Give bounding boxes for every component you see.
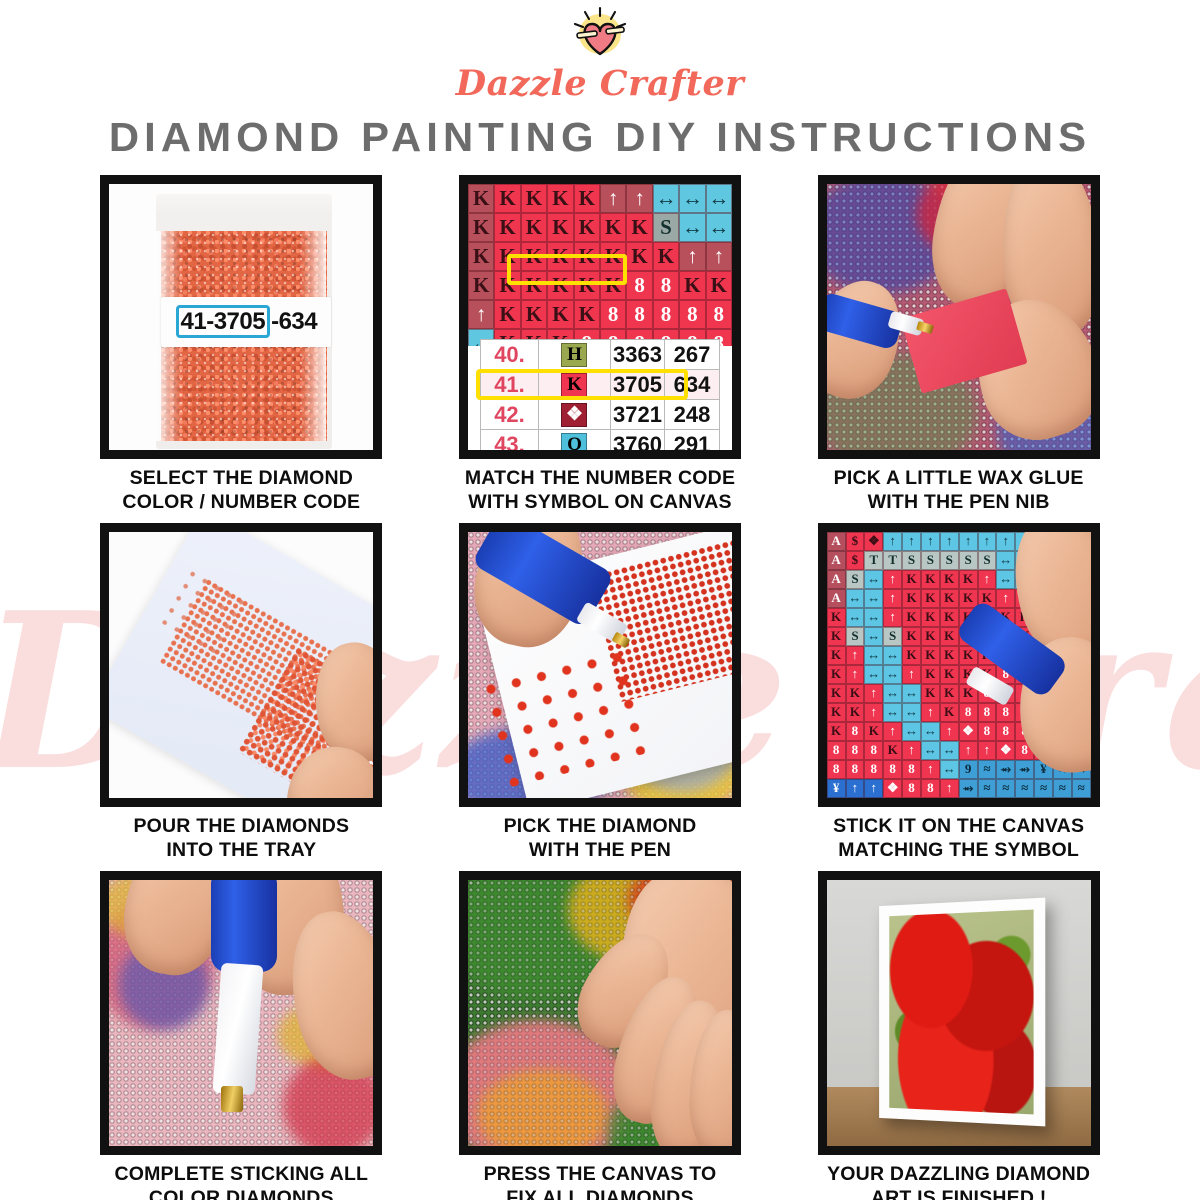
pick-diamond-scene xyxy=(468,532,732,798)
legend-dmc: 3363 xyxy=(611,340,665,370)
legend-table: 40. H 3363 267 41. K 3705 634 42. xyxy=(480,339,720,450)
step-photo xyxy=(459,523,741,807)
highlighted-code: 41-3705 xyxy=(176,305,271,338)
framed-artwork xyxy=(889,909,1033,1114)
bag-label: 41-3705-634 xyxy=(161,297,331,347)
step-complete-sticking: COMPLETE STICKING ALL COLOR DIAMONDS xyxy=(62,871,421,1200)
table-row: 41. K 3705 634 xyxy=(481,370,719,400)
steps-grid: 41-3705-634 SELECT THE DIAMOND COLOR / N… xyxy=(0,175,1200,1200)
legend-count: 248 xyxy=(665,400,719,430)
step-match-number-code: KKKKK↑↑↔↔↔ KKKKKKKS↔↔ KKKKKKKK↑↑ KKKKKK8… xyxy=(421,175,780,515)
legend-index: 40. xyxy=(481,340,539,370)
legend-dmc: 3760 xyxy=(611,430,665,450)
brand-name: Dazzle Crafter xyxy=(0,66,1200,101)
page-title: DIAMOND PAINTING DIY INSTRUCTIONS xyxy=(0,114,1200,161)
step-caption: YOUR DAZZLING DIAMOND ART IS FINISHED ! xyxy=(827,1162,1090,1200)
step-stick-on-canvas: A$❖↑↑↑↑↑↑↑↑↑KK A$TTSSSSS↔↔S↔↔ AS↔↑KKKK↑↔… xyxy=(779,523,1138,863)
legend-dmc: 3705 xyxy=(611,370,665,400)
step-photo xyxy=(100,871,382,1155)
step-photo: 41-3705-634 xyxy=(100,175,382,459)
legend-symbol: ❖ xyxy=(539,400,611,430)
chart-highlight-box xyxy=(507,254,627,285)
table-row: 43. Q 3760 291 xyxy=(481,430,719,450)
symbol-chart-scene: A$❖↑↑↑↑↑↑↑↑↑KK A$TTSSSSS↔↔S↔↔ AS↔↑KKKK↑↔… xyxy=(827,532,1091,798)
step-photo xyxy=(459,871,741,1155)
step-caption: STICK IT ON THE CANVAS MATCHING THE SYMB… xyxy=(833,814,1084,863)
logo-wrap xyxy=(0,6,1200,64)
step-photo xyxy=(818,175,1100,459)
bag-label-text: 41-3705-634 xyxy=(176,308,318,336)
complete-sticking-scene xyxy=(109,880,373,1146)
wax-glue-scene xyxy=(827,184,1091,450)
heart-with-needle-icon xyxy=(568,6,632,62)
page-header: Dazzle Crafter DIAMOND PAINTING DIY INST… xyxy=(0,0,1200,161)
finished-art-scene xyxy=(827,880,1091,1146)
step-caption: PICK THE DIAMOND WITH THE PEN xyxy=(504,814,697,863)
legend-count: 291 xyxy=(665,430,719,450)
canvas-chart-scene: KKKKK↑↑↔↔↔ KKKKKKKS↔↔ KKKKKKKK↑↑ KKKKKK8… xyxy=(468,184,732,450)
step-caption: POUR THE DIAMONDS INTO THE TRAY xyxy=(133,814,349,863)
step-pick-diamond-with-pen: PICK THE DIAMOND WITH THE PEN xyxy=(421,523,780,863)
step-photo xyxy=(818,871,1100,1155)
step-select-diamond-color: 41-3705-634 SELECT THE DIAMOND COLOR / N… xyxy=(62,175,421,515)
code-suffix: -634 xyxy=(271,308,317,335)
step-photo: A$❖↑↑↑↑↑↑↑↑↑KK A$TTSSSSS↔↔S↔↔ AS↔↑KKKK↑↔… xyxy=(818,523,1100,807)
step-pour-diamonds-into-tray: POUR THE DIAMONDS INTO THE TRAY xyxy=(62,523,421,863)
legend-index: 41. xyxy=(481,370,539,400)
canvas-chart: KKKKK↑↑↔↔↔ KKKKKKKS↔↔ KKKKKKKK↑↑ KKKKKK8… xyxy=(468,184,732,346)
table-row: 42. ❖ 3721 248 xyxy=(481,400,719,430)
step-caption: PRESS THE CANVAS TO FIX ALL DIAMONDS xyxy=(484,1162,717,1200)
step-press-canvas: PRESS THE CANVAS TO FIX ALL DIAMONDS xyxy=(421,871,780,1200)
bag-of-diamonds-scene: 41-3705-634 xyxy=(109,184,373,450)
drill-pen xyxy=(211,880,277,972)
legend-count: 267 xyxy=(665,340,719,370)
table-row: 40. H 3363 267 xyxy=(481,340,719,370)
legend-symbol: H xyxy=(539,340,611,370)
infographic-page: Dazzle Crafter Dazzle Crafter xyxy=(0,0,1200,1200)
press-canvas-scene xyxy=(468,880,732,1146)
step-caption: MATCH THE NUMBER CODE WITH SYMBOL ON CAN… xyxy=(465,466,735,515)
step-pick-wax-glue: PICK A LITTLE WAX GLUE WITH THE PEN NIB xyxy=(779,175,1138,515)
legend-dmc: 3721 xyxy=(611,400,665,430)
tray-scene xyxy=(109,532,373,798)
legend-symbol: K xyxy=(539,370,611,400)
step-photo: KKKKK↑↑↔↔↔ KKKKKKKS↔↔ KKKKKKKK↑↑ KKKKKK8… xyxy=(459,175,741,459)
step-caption: PICK A LITTLE WAX GLUE WITH THE PEN NIB xyxy=(834,466,1084,515)
step-photo xyxy=(100,523,382,807)
legend-index: 43. xyxy=(481,430,539,450)
legend-index: 42. xyxy=(481,400,539,430)
legend-symbol: Q xyxy=(539,430,611,450)
step-caption: COMPLETE STICKING ALL COLOR DIAMONDS xyxy=(114,1162,368,1200)
step-caption: SELECT THE DIAMOND COLOR / NUMBER CODE xyxy=(122,466,360,515)
legend-count: 634 xyxy=(665,370,719,400)
step-finished-art: YOUR DAZZLING DIAMOND ART IS FINISHED ! xyxy=(779,871,1138,1200)
picture-frame xyxy=(879,897,1045,1126)
